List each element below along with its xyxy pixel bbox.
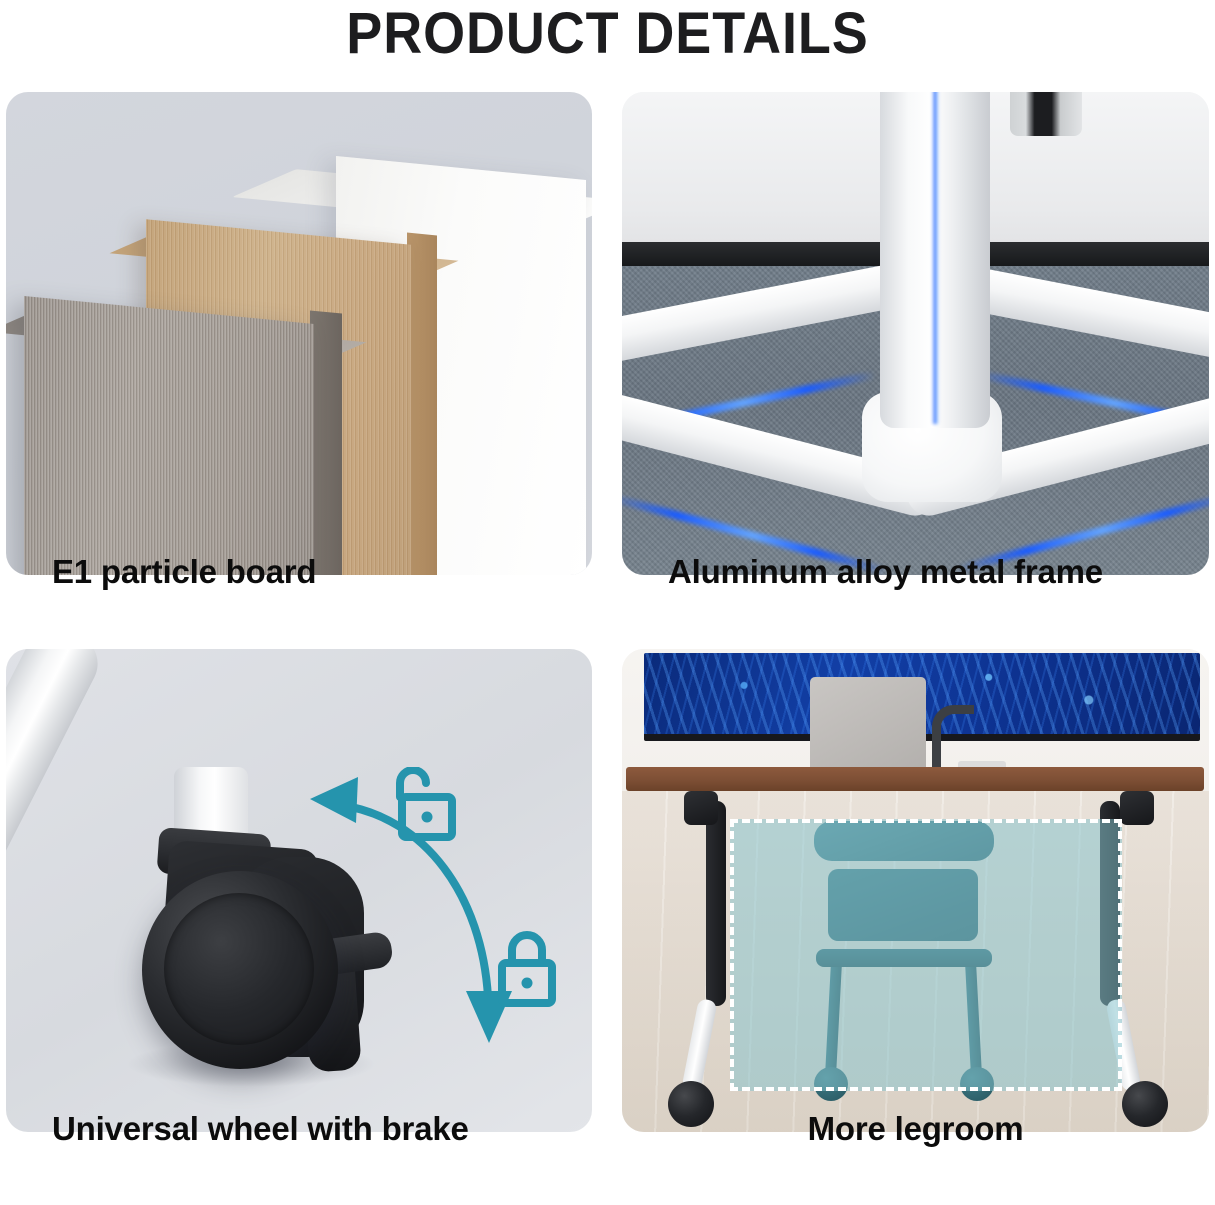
page-title: PRODUCT DETAILS xyxy=(43,0,1173,70)
blue-glow-column xyxy=(932,92,939,424)
table-leg-tube xyxy=(6,649,108,891)
panel-caption-universal-wheel: Universal wheel with brake xyxy=(6,1110,592,1148)
lock-icon xyxy=(492,929,562,1011)
desk-lamp-arm xyxy=(932,705,974,767)
panel-metal-frame: Aluminum alloy metal frame xyxy=(622,92,1209,587)
legroom-image xyxy=(622,649,1209,1132)
laptop xyxy=(810,677,926,771)
panel-universal-wheel: Universal wheel with brake xyxy=(6,649,592,1144)
particle-board-image xyxy=(6,92,592,575)
desk-bracket-right xyxy=(1120,791,1154,825)
desk-top-surface xyxy=(626,767,1204,791)
universal-wheel-image xyxy=(6,649,592,1132)
unlock-icon xyxy=(384,767,458,845)
caster-wheel-hub xyxy=(164,893,314,1045)
desk-bracket-left xyxy=(684,791,718,825)
grey-woodgrain-board xyxy=(24,296,314,575)
frame-clamp xyxy=(1010,92,1082,136)
desk-leg-black-left xyxy=(706,801,726,1006)
product-details-grid: E1 particle board Aluminum alloy metal f… xyxy=(0,86,1215,1205)
panel-caption-particle-board: E1 particle board xyxy=(6,553,592,591)
panel-caption-legroom: More legroom xyxy=(622,1110,1209,1148)
panel-caption-metal-frame: Aluminum alloy metal frame xyxy=(622,553,1209,591)
oak-board-side-edge xyxy=(407,233,437,575)
panel-particle-board: E1 particle board xyxy=(6,92,592,587)
panel-legroom: More legroom xyxy=(622,649,1209,1144)
metal-frame-image xyxy=(622,92,1209,575)
legroom-highlight-area xyxy=(730,819,1122,1091)
grey-board-side-edge xyxy=(310,310,342,575)
